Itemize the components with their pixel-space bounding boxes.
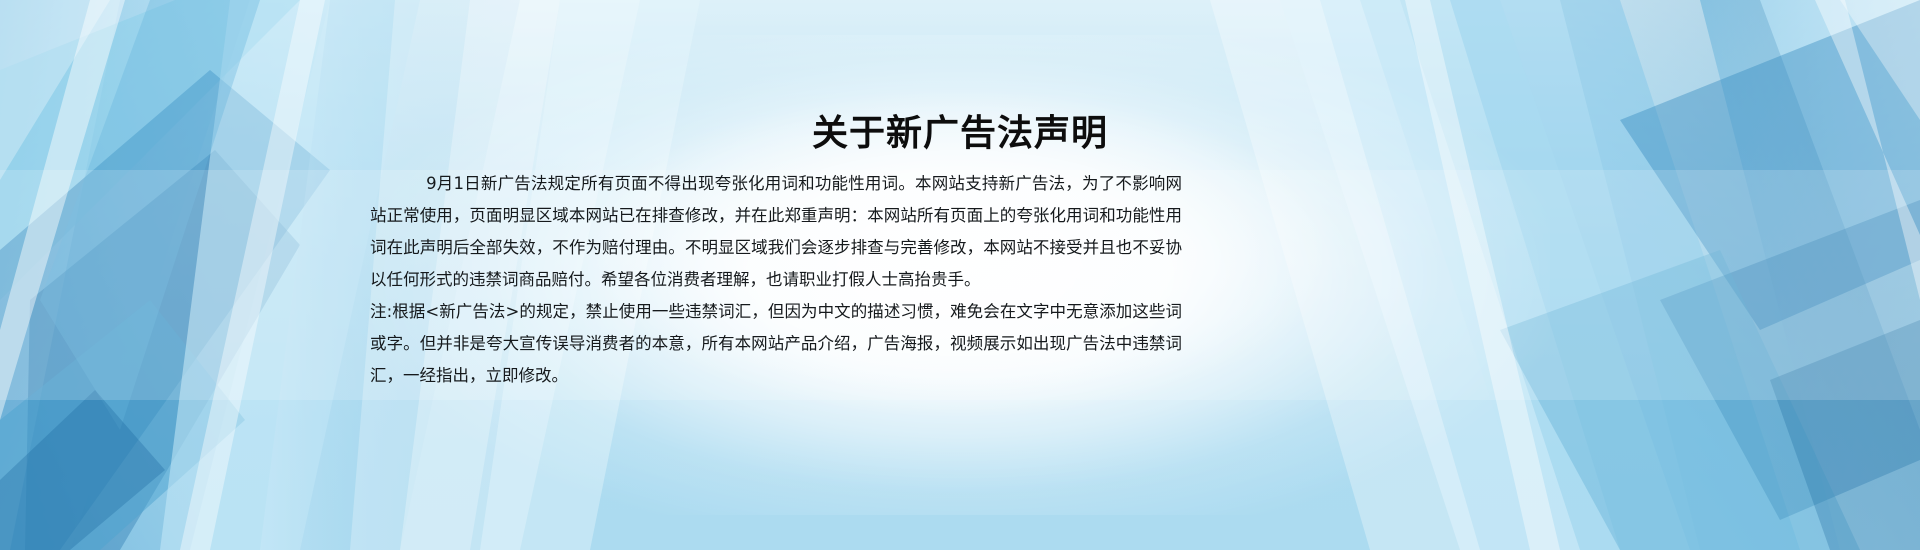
notice-paragraph-main: 9月1日新广告法规定所有页面不得出现夸张化用词和功能性用词。本网站支持新广告法，… xyxy=(370,168,1182,296)
banner-stage: 关于新广告法声明 9月1日新广告法规定所有页面不得出现夸张化用词和功能性用词。本… xyxy=(0,0,1920,550)
notice-paragraph-note: 注:根据<新广告法>的规定，禁止使用一些违禁词汇，但因为中文的描述习惯，难免会在… xyxy=(370,296,1182,392)
notice-content: 关于新广告法声明 9月1日新广告法规定所有页面不得出现夸张化用词和功能性用词。本… xyxy=(0,0,1920,550)
notice-body: 9月1日新广告法规定所有页面不得出现夸张化用词和功能性用词。本网站支持新广告法，… xyxy=(370,168,1182,392)
page-title: 关于新广告法声明 xyxy=(0,112,1920,155)
